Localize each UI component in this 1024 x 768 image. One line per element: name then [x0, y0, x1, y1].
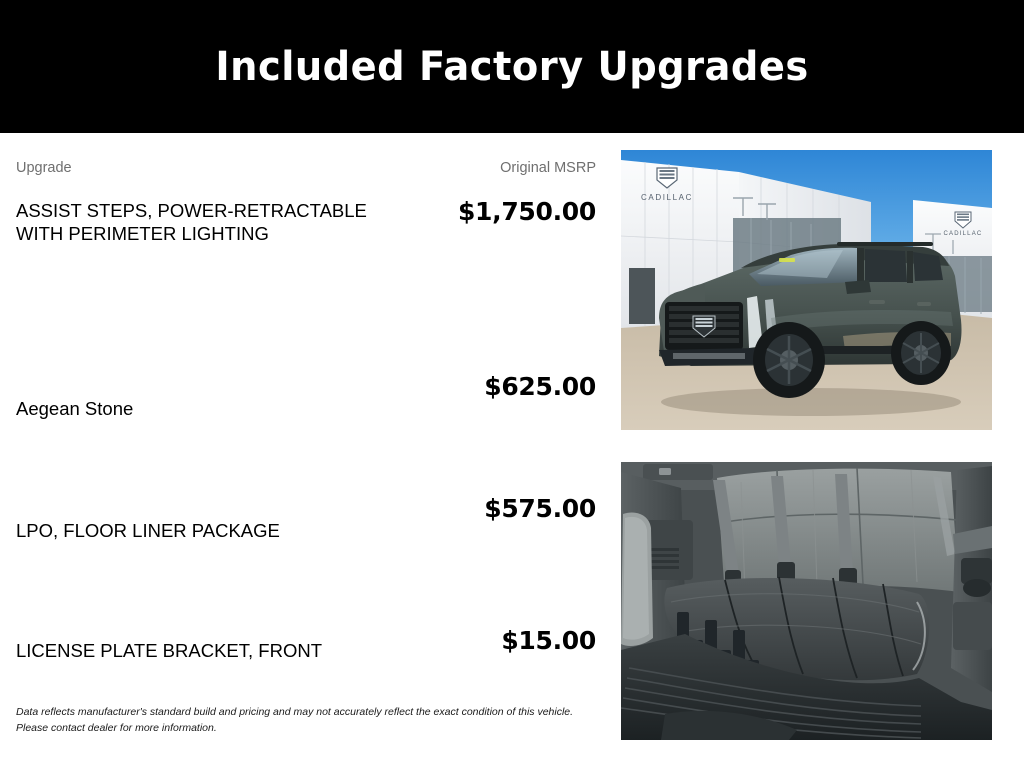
table-row: ASSIST STEPS, POWER-RETRACTABLE WITH PER…	[16, 191, 596, 321]
svg-text:CADILLAC: CADILLAC	[641, 193, 693, 202]
upgrade-price: $1,750.00	[458, 199, 596, 224]
table-row: Aegean Stone $625.00	[16, 321, 596, 445]
upgrade-price: $15.00	[501, 628, 596, 653]
upgrades-table: Upgrade Original MSRP ASSIST STEPS, POWE…	[16, 133, 596, 685]
upgrade-price: $575.00	[484, 496, 596, 521]
content-area: Upgrade Original MSRP ASSIST STEPS, POWE…	[0, 133, 1024, 768]
page-title: Included Factory Upgrades	[215, 47, 808, 87]
table-row: LPO, FLOOR LINER PACKAGE $575.00	[16, 445, 596, 567]
upgrade-name: LPO, FLOOR LINER PACKAGE	[16, 519, 280, 543]
vehicle-exterior-photo: CADILLAC	[621, 150, 992, 430]
upgrade-name: LICENSE PLATE BRACKET, FRONT	[16, 639, 322, 663]
page-header: Included Factory Upgrades	[0, 0, 1024, 133]
vehicle-interior-photo	[621, 462, 992, 740]
upgrade-name: ASSIST STEPS, POWER-RETRACTABLE WITH PER…	[16, 199, 396, 245]
column-header-upgrade: Upgrade	[16, 160, 72, 177]
table-header-row: Upgrade Original MSRP	[16, 133, 596, 191]
upgrade-price: $625.00	[484, 374, 596, 399]
upgrade-name: Aegean Stone	[16, 397, 133, 421]
disclaimer-text: Data reflects manufacturer's standard bu…	[16, 705, 596, 737]
table-row: LICENSE PLATE BRACKET, FRONT $15.00	[16, 567, 596, 685]
front-wheel	[753, 322, 825, 398]
rear-wheel	[891, 321, 951, 385]
vehicle-interior-illustration	[621, 462, 992, 740]
vehicle-exterior-illustration: CADILLAC	[621, 150, 992, 430]
column-header-original-msrp: Original MSRP	[500, 160, 596, 177]
svg-text:CADILLAC: CADILLAC	[944, 231, 983, 237]
table-body: ASSIST STEPS, POWER-RETRACTABLE WITH PER…	[16, 191, 596, 685]
